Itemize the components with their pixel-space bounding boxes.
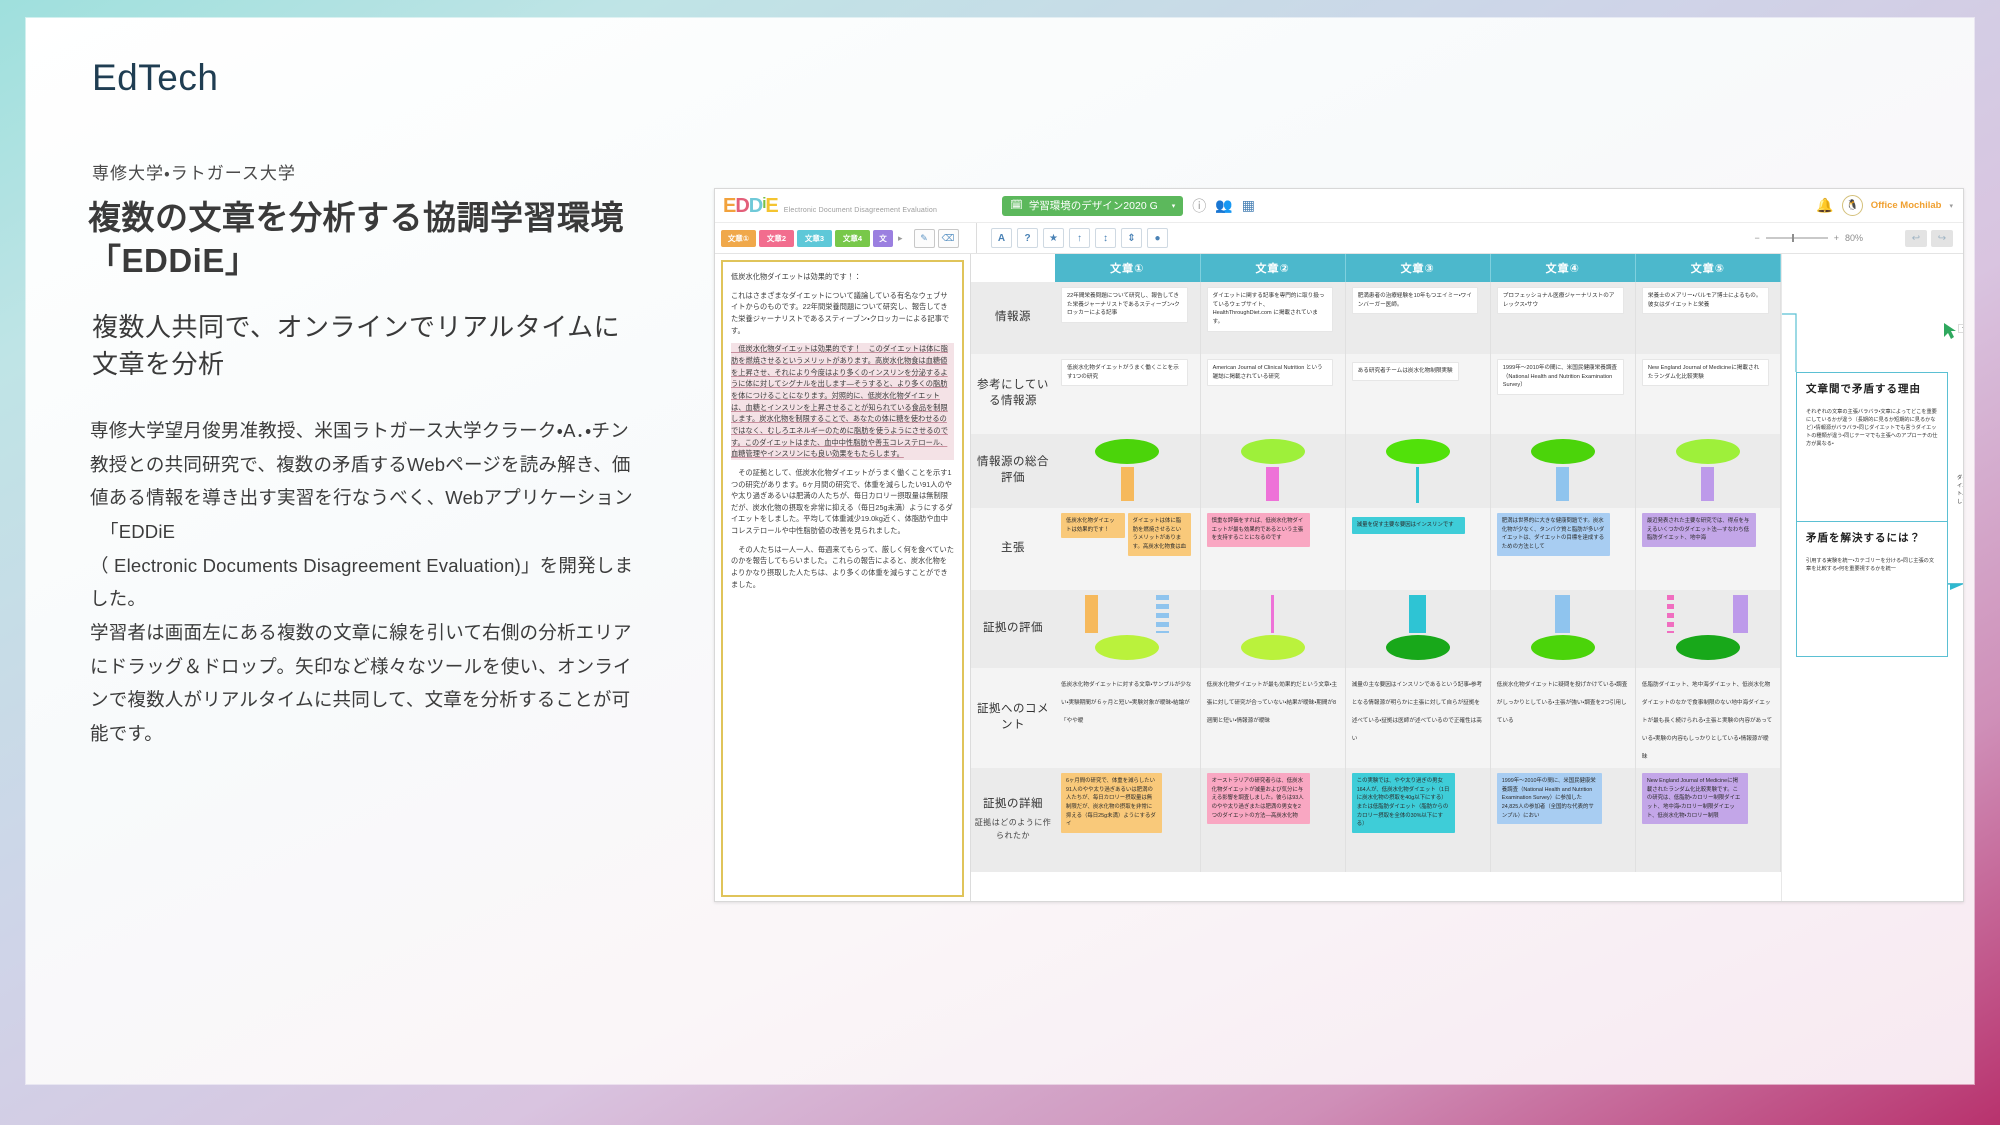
evidence-ellipse[interactable] [1241,635,1305,660]
claim-card[interactable]: 慎重な評価をすれば、低炭水化物ダイエットが最も効果的であるという主張を支持するこ… [1207,513,1310,547]
logo-letter-3: D [749,196,762,216]
rating-ellipse[interactable] [1241,439,1305,464]
cell-ref-5[interactable]: New England Journal of Medicineに掲載されたランダ… [1635,354,1780,434]
zoom-in-icon[interactable]: + [1834,233,1839,243]
doc-tab-4[interactable]: 文章4 [835,230,870,247]
category-title: EdTech [92,58,642,99]
row-label-sub: 証拠はどのように作られたか [972,817,1054,843]
cell-ref-2[interactable]: American Journal of Clinical Nutrition と… [1200,354,1345,434]
cell-ref-1[interactable]: 低炭水化物ダイエットがうまく働くことを示す1つの研究 [1055,354,1200,434]
claim-card[interactable]: 肥満は世界的に大きな健康問題です。炭水化物が少なく、タンパク質と脂肪が多いダイエ… [1497,513,1611,556]
arrow-shaft [1409,595,1426,633]
cell-ref-4[interactable]: 1999年〜2010年の間に、米国民健康栄養調査（National Health… [1490,354,1635,434]
detail-card[interactable]: 6ヶ月間の研究で、体重を減らしたい91人のやや太り過ぎあるいは肥満の人たちが、毎… [1061,773,1162,833]
panel-title: 矛盾を解決するには？ [1806,530,1938,545]
bell-icon[interactable]: 🔔 [1816,197,1833,214]
comment-text: 低炭水化物ダイエットが最も効果的だという文章・主張に対して研究が合っていない・結… [1207,682,1338,724]
cell-source-2[interactable]: ダイエットに関する記事を専門的に取り扱っているウェブサイト、HealthThro… [1200,282,1345,354]
zoom-slider[interactable] [1766,237,1828,239]
mouse-cursor-icon [1942,322,1958,340]
body-paragraph-1: 専修大学望月俊男准教授、米国ラトガース大学クラーク・A．・チン教授との共同研究で… [90,414,642,515]
question-tool[interactable]: ? [1017,228,1038,248]
double-arrow-tool[interactable]: ⇕ [1121,228,1142,248]
row-label-source-rating: 情報源の総合評価 [971,434,1055,508]
note-card: 肥満患者の治療経験を10年もつエイミー・ワインバーガー医師。 [1352,287,1479,314]
claim-card-extra[interactable]: ダイエットは体に脂肪を燃焼させるというメリットがあります。高炭水化物食は血 [1128,513,1192,556]
dashed-arrow-tool[interactable]: ↕ [1095,228,1116,248]
chevron-right-icon[interactable]: ▸ [898,233,903,244]
cell-comment-2[interactable]: 低炭水化物ダイエットが最も効果的だという文章・主張に対して研究が合っていない・結… [1200,668,1345,768]
logo-letter-5: E [765,196,777,216]
chevron-down-icon[interactable]: ▾ [1949,202,1953,210]
document-pane: 低炭水化物ダイエットは効果的です！： これはさまざまなダイエットについて議論して… [715,254,971,902]
row-label-claim: 主張 [971,508,1055,590]
evidence-ellipse[interactable] [1676,635,1740,660]
cell-rating-2[interactable] [1200,434,1345,508]
claim-card[interactable]: 最近発表された主要な研究では、得点を与えるいくつかのダイエット法—すなわち低脂肪… [1642,513,1756,547]
comment-text: 低炭水化物ダイエットに対する文章・サンプルが少ない・実験期間が６ヶ月と短い・実験… [1061,682,1191,724]
doc-tab-2[interactable]: 文章2 [759,230,794,247]
row-label-evidence-detail: 証拠の詳細 証拠はどのように作られたか [971,768,1055,872]
cell-comment-1[interactable]: 低炭水化物ダイエットに対する文章・サンプルが少ない・実験期間が６ヶ月と短い・実験… [1055,668,1200,768]
document-sheet[interactable]: 低炭水化物ダイエットは効果的です！： これはさまざまなダイエットについて議論して… [721,260,964,897]
cell-comment-5[interactable]: 低脂肪ダイエット、地中海ダイエット、低炭水化物ダイエットのなかで食事制限のない地… [1635,668,1780,768]
cell-claim-2[interactable]: 慎重な評価をすれば、低炭水化物ダイエットが最も効果的であるという主張を支持するこ… [1200,508,1345,590]
ellipse-tool[interactable]: ● [1147,228,1168,248]
column-header-2: 文章② [1200,254,1345,282]
arrow-shaft [1271,595,1274,633]
doc-para-2: これはさまざまなダイエットについて議論している有名なウェブサイトからのものです。… [731,290,954,337]
chevron-down-icon: ▾ [1172,202,1176,210]
grid-row-source: 情報源 22年間栄養問題について研究し、報告してきた栄養ジャーナリストであるステ… [971,282,1781,354]
rating-ellipse[interactable] [1676,439,1740,464]
app-toolbar: 文章① 文章2 文章3 文章4 文 ▸ ✎ ⌫ A ? ★ ↑ ↕ ⇕ ● − [715,223,1963,254]
user-name: Office Mochilab [1871,200,1942,211]
logo-letter-2: D [735,196,748,216]
avatar[interactable]: 🐧 [1842,195,1863,216]
doc-tab-1[interactable]: 文章① [721,230,756,247]
dashed-arrow-shaft [1667,595,1674,633]
project-selector[interactable]: 🗓 学習環境のデザイン2020 G ▾ [1002,196,1183,216]
body-paragraph-4: 学習者は画面左にある複数の文章に線を引いて右側の分析エリアにドラッグ＆ドロップ。… [90,616,642,751]
grid-corner [971,254,1055,282]
column-header-1: 文章① [1055,254,1200,282]
arrow-up-tool[interactable]: ↑ [1069,228,1090,248]
cell-source-1[interactable]: 22年間栄養問題について研究し、報告してきた栄養ジャーナリストであるスティーブン… [1055,282,1200,354]
rating-ellipse[interactable] [1386,439,1450,464]
note-card: 1999年〜2010年の間に、米国民健康栄養調査（National Health… [1497,359,1624,395]
cell-detail-3[interactable]: この実験では、やや太り過ぎの男女164人が、低炭水化物ダイエット（1日に炭水化物… [1345,768,1490,872]
cell-rating-3[interactable] [1345,434,1490,508]
note-card: ダイエットに関する記事を専門的に取り扱っているウェブサイト、HealthThro… [1207,287,1334,332]
affiliation-line: 専修大学・ラトガース大学 [92,159,642,184]
grid-header-row: 文章① 文章② 文章③ 文章④ 文章⑤ [971,254,1781,282]
rating-ellipse[interactable] [1095,439,1159,464]
evidence-ellipse[interactable] [1531,635,1595,660]
doc-para-4: その証拠として、低炭水化物ダイエットがうまく働くことを示す1つの研究があります。… [731,467,954,537]
eraser-icon[interactable]: ⌫ [938,229,959,248]
cell-ev-rating-5[interactable] [1635,590,1780,668]
cell-claim-1[interactable]: 低炭水化物ダイエットは効果的です！ ダイエットは体に脂肪を燃焼させるというメリッ… [1055,508,1200,590]
cell-detail-5[interactable]: New England Journal of Medicineに掲載されたランダ… [1635,768,1780,872]
arrow-shaft [1266,467,1279,501]
grid-row-source-rating: 情報源の総合評価 [971,434,1781,508]
page-title: 複数の文章を分析する協調学習環境「EDDiE」 [88,196,642,283]
doc-para-1: 低炭水化物ダイエットは効果的です！： [731,271,954,283]
cell-detail-4[interactable]: 1999年〜2010年の間に、米国民健康栄養調査（National Health… [1490,768,1635,872]
detail-card[interactable]: この実験では、やや太り過ぎの男女164人が、低炭水化物ダイエット（1日に炭水化物… [1352,773,1455,833]
grid-icon[interactable]: ▦ [1242,197,1255,214]
cell-claim-5[interactable]: 最近発表された主要な研究では、得点を与えるいくつかのダイエット法—すなわち低脂肪… [1635,508,1780,590]
body-copy: 専修大学望月俊男准教授、米国ラトガース大学クラーク・A．・チン教授との共同研究で… [90,414,642,751]
logo-letter-1: E [723,196,735,216]
note-card: 22年間栄養問題について研究し、報告してきた栄養ジャーナリストであるスティーブン… [1061,287,1188,323]
detail-card[interactable]: オーストラリアの研究者らは、低炭水化物ダイエットが減量および気分に与える影響を調… [1207,773,1310,824]
note-card: プロフェッショナル医療ジャーナリストのアレックス・サウ [1497,287,1624,314]
calendar-icon: 🗓 [1010,200,1023,211]
grid-row-references: 参考にしている情報源 低炭水化物ダイエットがうまく働くことを示す1つの研究 Am… [971,354,1781,434]
cell-ev-rating-1[interactable] [1055,590,1200,668]
annotation-toolbar: A ? ★ ↑ ↕ ⇕ ● − + 80% ↩ ↪ [977,223,1963,253]
cell-source-5[interactable]: 栄養士のメアリー・バルモア博士によるもの。彼女はダイエットと栄養 [1635,282,1780,354]
evidence-ellipse[interactable] [1095,635,1159,660]
cell-claim-4[interactable]: 肥満は世界的に大きな健康問題です。炭水化物が少なく、タンパク質と脂肪が多いダイエ… [1490,508,1635,590]
panel-conclusion[interactable]: 結 論 ダイエットといっても目的は人それぞれなので、長期的にダイエットをしたい人… [1948,439,1963,584]
column-header-5: 文章⑤ [1635,254,1780,282]
note-card: 栄養士のメアリー・バルモア博士によるもの。彼女はダイエットと栄養 [1642,287,1769,314]
cell-comment-3[interactable]: 減量の主な要因はインスリンであるという記事・参考となる情報源が明らかに主張に対し… [1345,668,1490,768]
cell-comment-4[interactable]: 低炭水化物ダイエットに疑問を投げかけている・調査がしっかりとしている・主張が強い… [1490,668,1635,768]
detail-card[interactable]: 1999年〜2010年の間に、米国民健康栄養調査（National Health… [1497,773,1603,824]
analysis-canvas: 文章① 文章② 文章③ 文章④ 文章⑤ 情報源 22年間栄養問題に [971,254,1963,902]
comment-text: 減量の主な要因はインスリンであるという記事・参考となる情報源が明らかに主張に対し… [1352,682,1482,742]
doc-tab-5[interactable]: 文 [873,230,893,247]
undo-redo-group: ↩ ↪ [1905,230,1953,247]
claim-card[interactable]: 減量を促す主要な要因はインスリンです [1352,517,1466,534]
subheadline: 複数人共同で、オンラインでリアルタイムに文章を分析 [92,309,642,384]
cell-detail-2[interactable]: オーストラリアの研究者らは、低炭水化物ダイエットが減量および気分に与える影響を調… [1200,768,1345,872]
row-label-source: 情報源 [971,282,1055,354]
row-label-main: 証拠の詳細 [983,798,1043,810]
panel-title: 文章間で矛盾する理由 [1806,381,1938,396]
arrow-shaft [1555,595,1570,633]
conclusion-pane: 文章間で矛盾する理由 それぞれの文章の主張バラバラ・文章によってどこを重要にして… [1781,254,1963,902]
doc-tab-3[interactable]: 文章3 [797,230,832,247]
eddie-app-screenshot: EDDiE Electronic Document Disagreement E… [714,188,1964,902]
logo-subtitle: Electronic Document Disagreement Evaluat… [784,207,937,216]
cell-rating-4[interactable] [1490,434,1635,508]
column-header-4: 文章④ [1490,254,1635,282]
arrow-shaft [1556,467,1569,501]
grid-row-evidence-comment: 証拠へのコメント 低炭水化物ダイエットに対する文章・サンプルが少ない・実験期間が… [971,668,1781,768]
arrow-shaft [1701,467,1714,501]
detail-card[interactable]: New England Journal of Medicineに掲載されたランダ… [1642,773,1748,824]
topbar-user-area: 🔔 🐧 Office Mochilab ▾ [1816,195,1953,216]
body-paragraph-3: （ Electronic Documents Disagreement Eval… [90,549,642,616]
arrow-shaft [1085,595,1098,633]
row-label-evidence-rating: 証拠の評価 [971,590,1055,668]
note-card: 低炭水化物ダイエットがうまく働くことを示す1つの研究 [1061,359,1188,386]
row-label-evidence-comment: 証拠へのコメント [971,668,1055,768]
panel-body: 引用する実験を統一・カテゴリーを分ける・同じ主張の文章を比較する・何を重要視する… [1806,557,1938,573]
cursor-user-label: Toshio Mochizuki [1958,324,1963,333]
row-label-references: 参考にしている情報源 [971,354,1055,434]
cell-ev-rating-4[interactable] [1490,590,1635,668]
arrow-shaft [1733,595,1748,633]
panel-title: 結 論 [1957,447,1963,462]
cell-claim-3[interactable]: 減量を促す主要な要因はインスリンです [1345,508,1490,590]
comment-text: 低脂肪ダイエット、地中海ダイエット、低炭水化物ダイエットのなかで食事制限のない地… [1642,682,1772,760]
cell-ev-rating-3[interactable] [1345,590,1490,668]
zoom-level: 80% [1845,233,1863,243]
grid-row-claim: 主張 低炭水化物ダイエットは効果的です！ ダイエットは体に脂肪を燃焼させるという… [971,508,1781,590]
panel-body: ダイエットといっても目的は人それぞれなので、長期的にダイエットをしたい人は無理な… [1957,474,1963,506]
cell-source-4[interactable]: プロフェッショナル医療ジャーナリストのアレックス・サウ [1490,282,1635,354]
project-name: 学習環境のデザイン2020 G [1029,198,1158,213]
text-tool[interactable]: A [991,228,1012,248]
slide-text-column: EdTech 専修大学・ラトガース大学 複数の文章を分析する協調学習環境「EDD… [82,58,642,751]
panel-resolution[interactable]: 矛盾を解決するには？ 引用する実験を統一・カテゴリーを分ける・同じ主張の文章を比… [1796,522,1948,657]
cell-detail-1[interactable]: 6ヶ月間の研究で、体重を減らしたい91人のやや太り過ぎあるいは肥満の人たちが、毎… [1055,768,1200,872]
note-card: American Journal of Clinical Nutrition と… [1207,359,1334,386]
panel-contradiction-reason[interactable]: 文章間で矛盾する理由 それぞれの文章の主張バラバラ・文章によってどこを重要にして… [1796,372,1948,522]
dashed-arrow-shaft [1156,595,1169,633]
note-card: New England Journal of Medicineに掲載されたランダ… [1642,359,1769,386]
cell-rating-5[interactable] [1635,434,1780,508]
comment-text: 低炭水化物ダイエットに疑問を投げかけている・調査がしっかりとしている・主張が強い… [1497,682,1628,724]
arrow-shaft [1121,467,1134,501]
grid-row-evidence-detail: 証拠の詳細 証拠はどのように作られたか 6ヶ月間の研究で、体重を減らしたい91人… [971,768,1781,872]
doc-para-3-highlighted[interactable]: 低炭水化物ダイエットは効果的です！ このダイエットは体に脂肪を燃焼させるというメ… [731,343,954,460]
redo-icon[interactable]: ↪ [1931,230,1953,247]
cell-ev-rating-2[interactable] [1200,590,1345,668]
panel-body: それぞれの文章の主張バラバラ・文章によってどこを重要にしているかが違う（長期的に… [1806,408,1938,448]
slide-canvas: EdTech 専修大学・ラトガース大学 複数の文章を分析する協調学習環境「EDD… [26,18,1974,1084]
doc-para-5: その人たちは一人一人、毎週来てもらって、厳しく何を食べていたのかを報告してもらい… [731,544,954,591]
analysis-grid: 文章① 文章② 文章③ 文章④ 文章⑤ 情報源 22年間栄養問題に [971,254,1781,902]
info-icon[interactable]: ⓘ [1192,196,1206,216]
zoom-control[interactable]: − + 80% [1754,233,1863,243]
eddie-logo: EDDiE Electronic Document Disagreement E… [723,196,937,216]
claim-card[interactable]: 低炭水化物ダイエットは効果的です！ [1061,513,1125,538]
note-card: ある研究者チームは炭水化物制限実験 [1352,362,1459,381]
evidence-ellipse[interactable] [1386,635,1450,660]
column-header-3: 文章③ [1345,254,1490,282]
cell-source-3[interactable]: 肥満患者の治療経験を10年もつエイミー・ワインバーガー医師。 [1345,282,1490,354]
undo-icon[interactable]: ↩ [1905,230,1927,247]
pen-icon[interactable]: ✎ [914,229,935,248]
document-tab-strip: 文章① 文章2 文章3 文章4 文 ▸ ✎ ⌫ [715,223,977,253]
grid-row-evidence-rating: 証拠の評価 [971,590,1781,668]
add-user-icon[interactable]: 👥 [1215,197,1232,214]
app-top-bar: EDDiE Electronic Document Disagreement E… [715,189,1963,223]
zoom-out-icon[interactable]: − [1754,233,1759,243]
rating-ellipse[interactable] [1531,439,1595,464]
cell-ref-3[interactable]: ある研究者チームは炭水化物制限実験 [1345,354,1490,434]
logo-letters: EDDiE [723,196,778,216]
app-main-area: 低炭水化物ダイエットは効果的です！： これはさまざまなダイエットについて議論して… [715,254,1963,902]
arrow-shaft [1416,467,1419,503]
cell-rating-1[interactable] [1055,434,1200,508]
body-paragraph-2: 「EDDiE [90,515,642,549]
star-tool[interactable]: ★ [1043,228,1064,248]
